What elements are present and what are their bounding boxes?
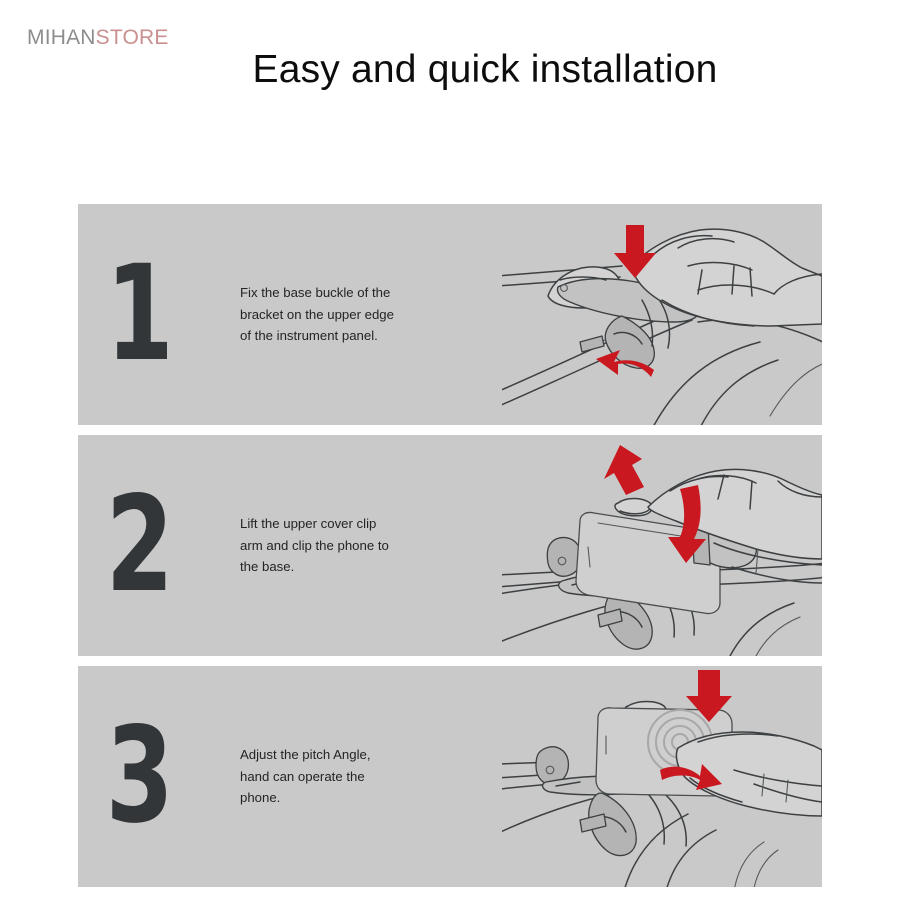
step-3-content: 3 Adjust the pitch Angle, hand can opera… — [78, 666, 502, 887]
step-2-illustration — [502, 435, 822, 656]
step-panel-3: 3 Adjust the pitch Angle, hand can opera… — [78, 666, 822, 887]
step-2-line-3: the base. — [240, 556, 492, 578]
brand-logo: MIHANSTORE — [27, 26, 169, 50]
step-1-line-3: of the instrument panel. — [240, 325, 492, 347]
step-3-number: 3 — [94, 725, 184, 828]
step-3-line-2: hand can operate the — [240, 766, 492, 788]
brand-logo-primary: MIHAN — [27, 26, 96, 49]
step-1-content: 1 Fix the base buckle of the bracket on … — [78, 204, 502, 425]
step-3-description: Adjust the pitch Angle, hand can operate… — [200, 744, 502, 809]
step-1-description: Fix the base buckle of the bracket on th… — [200, 282, 502, 347]
step-2-line-2: arm and clip the phone to — [240, 535, 492, 557]
arrow-up-icon — [604, 445, 644, 495]
step-1-illustration — [502, 204, 822, 425]
step-1-number: 1 — [94, 263, 184, 366]
step-3-illustration — [502, 666, 822, 887]
step-2-content: 2 Lift the upper cover clip arm and clip… — [78, 435, 502, 656]
step-3-line-3: phone. — [240, 787, 492, 809]
step-3-line-1: Adjust the pitch Angle, — [240, 744, 492, 766]
brand-logo-secondary: STORE — [96, 26, 169, 49]
page-title: Easy and quick installation — [0, 48, 900, 92]
step-panel-1: 1 Fix the base buckle of the bracket on … — [78, 204, 822, 425]
step-2-description: Lift the upper cover clip arm and clip t… — [200, 513, 502, 578]
installation-steps-list: 1 Fix the base buckle of the bracket on … — [78, 204, 822, 887]
step-panel-2: 2 Lift the upper cover clip arm and clip… — [78, 435, 822, 656]
step-1-line-1: Fix the base buckle of the — [240, 282, 492, 304]
step-1-line-2: bracket on the upper edge — [240, 304, 492, 326]
step-2-line-1: Lift the upper cover clip — [240, 513, 492, 535]
hand-pointing-finger — [676, 732, 822, 816]
step-2-number: 2 — [94, 494, 184, 597]
